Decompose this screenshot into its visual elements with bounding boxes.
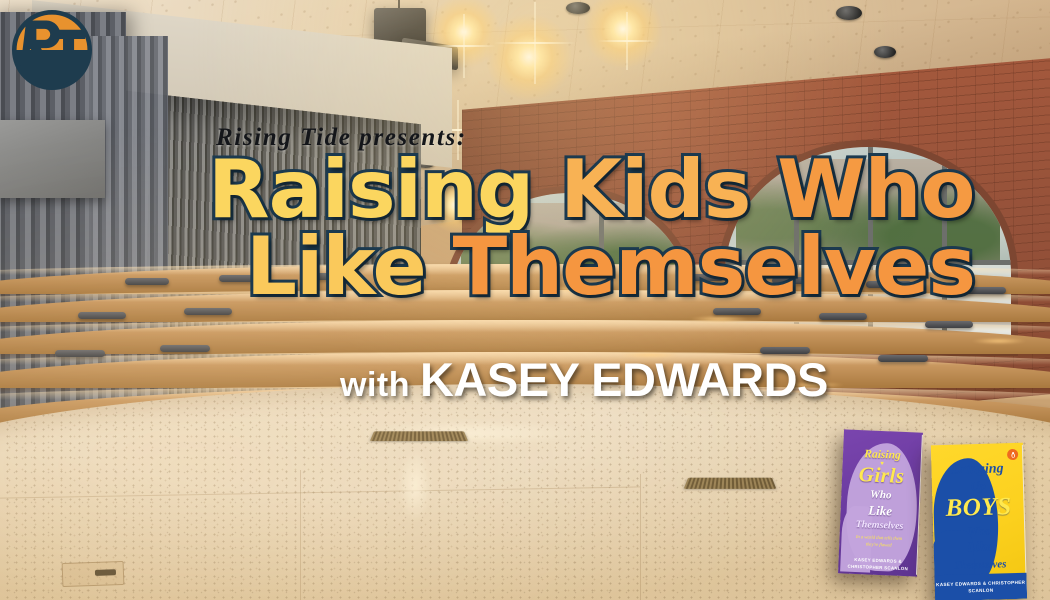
girls-book-line-like: Like	[840, 501, 920, 520]
downlight-4	[874, 46, 896, 58]
floor-vent-1	[370, 431, 468, 441]
downlight-2	[836, 6, 862, 20]
downlight-1	[566, 2, 590, 14]
title-word-themselves: Themselves	[453, 229, 975, 306]
seat-cushion	[160, 345, 210, 352]
girls-book-subtitle: In a world that tells them they're flawe…	[852, 534, 907, 550]
boys-book-line-main: BOYS	[932, 493, 1025, 524]
event-promo-poster: Rising Tide presents: Raising Kids Who L…	[0, 0, 1050, 600]
seat-cushion	[125, 278, 169, 285]
title-line-2: Like Themselves	[246, 229, 848, 306]
seat-cushion	[925, 321, 973, 328]
seat-cushion	[184, 308, 232, 315]
title-word-kids: Kids	[560, 152, 750, 229]
speaker-prefix: with	[340, 366, 410, 404]
tech-booth-panel	[0, 120, 105, 198]
speaker-name: KASEY EDWARDS	[420, 353, 828, 406]
step-light	[690, 316, 748, 322]
floor-light-reflection-2	[398, 448, 432, 522]
raising-girls-book[interactable]: Raising ♥ Girls Who Like Themselves In a…	[838, 429, 923, 576]
hatch-handle	[95, 570, 116, 576]
event-title: Raising Kids Who Like Themselves	[208, 152, 848, 306]
rising-tide-logo[interactable]	[6, 2, 98, 98]
floor-seam-2	[640, 474, 641, 600]
boys-book-line-themselves: Themselves	[934, 558, 1026, 573]
title-word-who: Who	[777, 152, 974, 229]
seat-cushion	[819, 313, 867, 320]
boys-book-line-like: Like	[934, 539, 1026, 558]
floor-seam-3	[300, 470, 301, 600]
title-word-raising: Raising	[208, 152, 533, 229]
floor-vent-2	[684, 478, 777, 489]
seat-cushion	[55, 350, 105, 357]
title-word-like: Like	[246, 229, 426, 306]
seat-cushion	[878, 355, 928, 362]
boys-book-authors: KASEY EDWARDS & CHRISTOPHER SCANLON	[935, 579, 1027, 596]
boys-book-author-band: KASEY EDWARDS & CHRISTOPHER SCANLON	[934, 573, 1027, 600]
floor-access-hatch	[62, 561, 125, 587]
penguin-logo-icon	[1007, 449, 1018, 460]
step-light	[972, 338, 1026, 344]
girls-book-line-main: Girls	[842, 461, 922, 489]
seating-tier-3	[0, 320, 1050, 354]
bringing-up-boys-book[interactable]: Bringing Up BOYS Who Like Themselves KAS…	[931, 443, 1027, 600]
title-line-1: Raising Kids Who	[208, 152, 848, 229]
seat-cushion	[78, 312, 126, 319]
boys-book-line-who: Who	[933, 523, 1025, 541]
speaker-line: withKASEY EDWARDS	[340, 352, 828, 407]
boys-book-line-bringing: Bringing	[931, 461, 1023, 480]
